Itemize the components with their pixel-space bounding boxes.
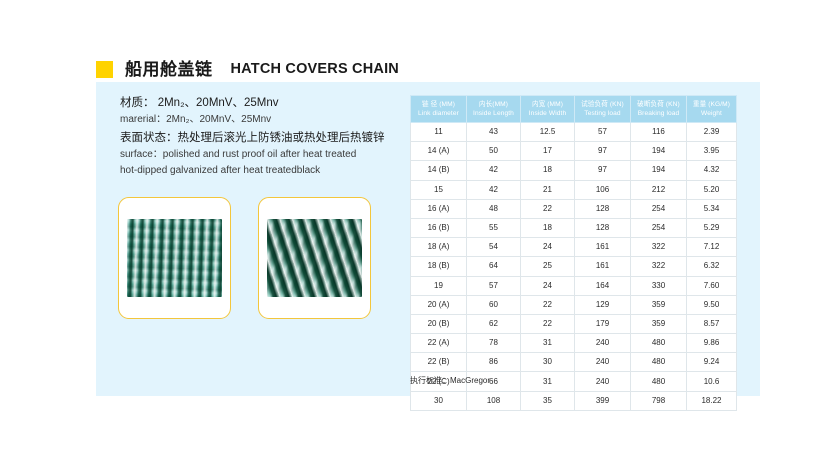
table-header-cn: 破断负荷 (KN): [632, 100, 685, 109]
table-cell-col-3: 128: [575, 199, 631, 218]
table-header-cell-2: 内宽 (MM)Inside Width: [521, 96, 575, 123]
table-cell-col-0: 18 (A): [411, 238, 467, 257]
table-cell-col-4: 194: [631, 161, 687, 180]
table-cell-col-3: 97: [575, 142, 631, 161]
spec-table-container: 链 径 (MM)Link diameter内长(MM)Inside Length…: [410, 95, 736, 411]
table-row: 114312.5571162.39: [411, 123, 737, 142]
table-cell-col-2: 22: [521, 295, 575, 314]
chain-photo-card-2: [258, 197, 371, 319]
table-header-cell-0: 链 径 (MM)Link diameter: [411, 96, 467, 123]
table-cell-col-1: 42: [467, 161, 521, 180]
table-cell-col-1: 43: [467, 123, 521, 142]
table-cell-col-0: 15: [411, 180, 467, 199]
table-cell-col-5: 10.6: [687, 372, 737, 391]
page-title: 船用舱盖链 HATCH COVERS CHAIN: [96, 56, 399, 82]
chain-photo-coiled: [127, 219, 222, 297]
surface-label-en-line2: hot-dipped galvanized after heat treated…: [120, 163, 420, 179]
table-cell-col-3: 161: [575, 257, 631, 276]
table-cell-col-0: 14 (B): [411, 161, 467, 180]
table-cell-col-3: 240: [575, 334, 631, 353]
table-cell-col-5: 6.32: [687, 257, 737, 276]
chain-photo-card-1: [118, 197, 231, 319]
table-cell-col-5: 5.29: [687, 218, 737, 237]
table-cell-col-4: 359: [631, 314, 687, 333]
table-cell-col-0: 16 (A): [411, 199, 467, 218]
table-cell-col-3: 164: [575, 276, 631, 295]
table-cell-col-5: 2.39: [687, 123, 737, 142]
table-cell-col-0: 30: [411, 391, 467, 410]
table-header-en: Breaking load: [632, 109, 685, 118]
table-header-cn: 内长(MM): [468, 100, 519, 109]
table-cell-col-0: 20 (B): [411, 314, 467, 333]
table-cell-col-4: 212: [631, 180, 687, 199]
table-cell-col-5: 4.32: [687, 161, 737, 180]
table-cell-col-0: 22 (A): [411, 334, 467, 353]
table-row: 20 (B)62221793598.57: [411, 314, 737, 333]
table-cell-col-2: 17: [521, 142, 575, 161]
table-cell-col-4: 254: [631, 199, 687, 218]
table-cell-col-1: 86: [467, 353, 521, 372]
accent-square-icon: [96, 61, 113, 78]
page-title-en: HATCH COVERS CHAIN: [231, 62, 399, 77]
table-standard-note: 执行标准：MacGregor: [410, 375, 490, 386]
material-label-en: marerial：2Mn₂、20MnV、25Mnv: [120, 112, 420, 128]
table-cell-col-3: 240: [575, 353, 631, 372]
table-cell-col-1: 54: [467, 238, 521, 257]
table-cell-col-2: 22: [521, 314, 575, 333]
table-cell-col-2: 31: [521, 372, 575, 391]
table-cell-col-2: 31: [521, 334, 575, 353]
table-row: 14 (A)5017971943.95: [411, 142, 737, 161]
table-header-row: 链 径 (MM)Link diameter内长(MM)Inside Length…: [411, 96, 737, 123]
table-row: 16 (A)48221282545.34: [411, 199, 737, 218]
table-cell-col-4: 798: [631, 391, 687, 410]
table-cell-col-3: 106: [575, 180, 631, 199]
table-cell-col-0: 16 (B): [411, 218, 467, 237]
table-header-cn: 重量 (KG/M): [688, 100, 735, 109]
table-header-cell-1: 内长(MM)Inside Length: [467, 96, 521, 123]
table-cell-col-4: 194: [631, 142, 687, 161]
table-cell-col-3: 128: [575, 218, 631, 237]
table-cell-col-5: 9.86: [687, 334, 737, 353]
specification-table: 链 径 (MM)Link diameter内长(MM)Inside Length…: [410, 95, 737, 411]
table-cell-col-2: 12.5: [521, 123, 575, 142]
table-row: 22 (B)86302404809.24: [411, 353, 737, 372]
table-cell-col-2: 21: [521, 180, 575, 199]
table-header-cn: 链 径 (MM): [412, 100, 465, 109]
table-cell-col-0: 14 (A): [411, 142, 467, 161]
table-row: 1542211062125.20: [411, 180, 737, 199]
table-cell-col-3: 97: [575, 161, 631, 180]
table-cell-col-3: 129: [575, 295, 631, 314]
table-cell-col-0: 11: [411, 123, 467, 142]
table-cell-col-5: 9.24: [687, 353, 737, 372]
table-cell-col-4: 480: [631, 334, 687, 353]
table-cell-col-1: 64: [467, 257, 521, 276]
table-cell-col-2: 24: [521, 276, 575, 295]
table-cell-col-4: 480: [631, 353, 687, 372]
product-photo-gallery: [118, 197, 371, 319]
chain-photo-tangled: [267, 219, 362, 297]
table-cell-col-1: 108: [467, 391, 521, 410]
table-cell-col-2: 18: [521, 161, 575, 180]
table-cell-col-2: 25: [521, 257, 575, 276]
content-panel: 材质： 2Mn₂、20MnV、25Mnv marerial：2Mn₂、20MnV…: [96, 82, 760, 396]
table-cell-col-5: 5.34: [687, 199, 737, 218]
page-title-cn: 船用舱盖链: [125, 61, 213, 78]
table-cell-col-1: 78: [467, 334, 521, 353]
table-cell-col-4: 322: [631, 238, 687, 257]
table-header-en: Testing load: [576, 109, 629, 118]
table-cell-col-5: 9.50: [687, 295, 737, 314]
table-row: 301083539979818.22: [411, 391, 737, 410]
table-cell-col-1: 50: [467, 142, 521, 161]
table-cell-col-0: 19: [411, 276, 467, 295]
table-row: 1957241643307.60: [411, 276, 737, 295]
table-cell-col-1: 57: [467, 276, 521, 295]
table-cell-col-5: 18.22: [687, 391, 737, 410]
table-row: 18 (B)64251613226.32: [411, 257, 737, 276]
table-cell-col-3: 240: [575, 372, 631, 391]
table-cell-col-3: 399: [575, 391, 631, 410]
table-cell-col-1: 60: [467, 295, 521, 314]
table-header-en: Inside Width: [522, 109, 573, 118]
table-cell-col-2: 35: [521, 391, 575, 410]
table-row: 18 (A)54241613227.12: [411, 238, 737, 257]
table-header-en: Inside Length: [468, 109, 519, 118]
table-cell-col-2: 24: [521, 238, 575, 257]
table-cell-col-1: 62: [467, 314, 521, 333]
table-cell-col-5: 8.57: [687, 314, 737, 333]
table-row: 16 (B)55181282545.29: [411, 218, 737, 237]
table-cell-col-3: 57: [575, 123, 631, 142]
surface-label-cn: 表面状态：热处理后滚光上防锈油或热处理后热镀锌: [120, 130, 420, 147]
table-cell-col-4: 330: [631, 276, 687, 295]
table-cell-col-4: 359: [631, 295, 687, 314]
table-cell-col-5: 3.95: [687, 142, 737, 161]
table-cell-col-4: 254: [631, 218, 687, 237]
surface-label-en-line1: surface：polished and rust proof oil afte…: [120, 147, 420, 163]
specification-text-block: 材质： 2Mn₂、20MnV、25Mnv marerial：2Mn₂、20MnV…: [120, 95, 420, 179]
table-cell-col-3: 179: [575, 314, 631, 333]
table-cell-col-2: 18: [521, 218, 575, 237]
table-cell-col-0: 20 (A): [411, 295, 467, 314]
table-cell-col-3: 161: [575, 238, 631, 257]
table-cell-col-2: 30: [521, 353, 575, 372]
table-row: 22 (A)78312404809.86: [411, 334, 737, 353]
table-cell-col-5: 7.60: [687, 276, 737, 295]
table-cell-col-1: 55: [467, 218, 521, 237]
table-cell-col-4: 116: [631, 123, 687, 142]
table-header-cell-3: 试验负荷 (KN)Testing load: [575, 96, 631, 123]
table-body: 114312.5571162.3914 (A)5017971943.9514 (…: [411, 123, 737, 411]
table-cell-col-1: 48: [467, 199, 521, 218]
table-cell-col-5: 5.20: [687, 180, 737, 199]
table-header-cell-4: 破断负荷 (KN)Breaking load: [631, 96, 687, 123]
table-cell-col-4: 322: [631, 257, 687, 276]
table-header-cn: 试验负荷 (KN): [576, 100, 629, 109]
table-cell-col-1: 42: [467, 180, 521, 199]
table-cell-col-2: 22: [521, 199, 575, 218]
table-header-en: Link diameter: [412, 109, 465, 118]
table-row: 20 (A)60221293599.50: [411, 295, 737, 314]
table-header-en: Weight: [688, 109, 735, 118]
table-cell-col-0: 22 (B): [411, 353, 467, 372]
table-header-cell-5: 重量 (KG/M)Weight: [687, 96, 737, 123]
table-row: 14 (B)4218971944.32: [411, 161, 737, 180]
material-label-cn: 材质： 2Mn₂、20MnV、25Mnv: [120, 95, 420, 112]
table-cell-col-0: 18 (B): [411, 257, 467, 276]
table-cell-col-5: 7.12: [687, 238, 737, 257]
table-cell-col-4: 480: [631, 372, 687, 391]
table-header-cn: 内宽 (MM): [522, 100, 573, 109]
